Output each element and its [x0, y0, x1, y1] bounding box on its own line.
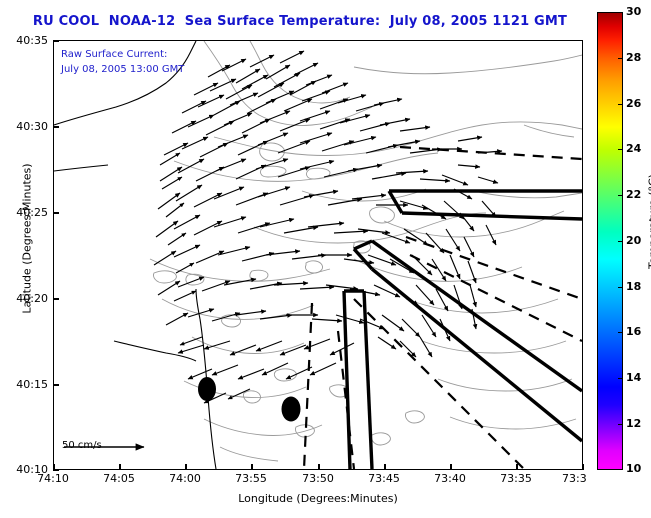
x-tick: [185, 464, 187, 470]
map-canvas: [54, 41, 582, 469]
colorbar-tick-label: 16: [626, 325, 641, 338]
reference-vector-arrow-icon: [62, 440, 158, 454]
x-tick: [318, 464, 320, 470]
colorbar-title: Temperature (°C): [647, 132, 651, 312]
x-tick-label: 73:50: [293, 472, 343, 485]
y-tick: [53, 298, 59, 300]
x-tick: [119, 464, 121, 470]
radar-station-marker: [198, 377, 216, 401]
y-tick-label: 40:35: [4, 34, 48, 47]
colorbar-tick-label: 14: [626, 371, 641, 384]
y-axis-title: Latitude (Degrees:Minutes): [21, 124, 34, 354]
y-tick-label: 40:15: [4, 378, 48, 391]
surface-current-vector-field: [154, 51, 502, 403]
sst-surface-current-figure: RU COOL NOAA-12 Sea Surface Temperature:…: [0, 0, 651, 518]
radar-station-marker: [282, 397, 301, 422]
colorbar-tick-label: 30: [626, 5, 641, 18]
scale-legend: 50 cm/s: [62, 440, 167, 453]
x-tick-label: 74:00: [160, 472, 210, 485]
annotation-line-2: July 08, 2005 13:00 GMT: [61, 64, 184, 75]
colorbar-tick-label: 20: [626, 234, 641, 247]
colorbar-tick-label: 18: [626, 280, 641, 293]
radar-sector-solid-boundaries: [344, 191, 582, 469]
x-tick: [251, 464, 253, 470]
current-annotation: Raw Surface Current:July 08, 2005 13:00 …: [61, 47, 184, 77]
coastline: [54, 41, 216, 469]
colorbar-tick-label: 26: [626, 97, 641, 110]
y-tick: [53, 40, 59, 42]
colorbar-tick-label: 24: [626, 142, 641, 155]
y-tick: [53, 212, 59, 214]
x-tick-label: 73:45: [359, 472, 409, 485]
map-plot-area: Raw Surface Current:July 08, 2005 13:00 …: [53, 40, 583, 470]
annotation-line-1: Raw Surface Current:: [61, 49, 167, 60]
x-tick-label: 73:35: [491, 472, 541, 485]
x-tick: [450, 464, 452, 470]
colorbar-tick-label: 22: [626, 188, 641, 201]
x-tick-label: 73:3: [562, 472, 612, 485]
x-tick: [582, 464, 584, 470]
x-tick: [384, 464, 386, 470]
x-axis-title: Longitude (Degrees:Minutes): [53, 492, 583, 505]
x-tick-label: 74:10: [28, 472, 78, 485]
x-tick-label: 73:40: [425, 472, 475, 485]
colorbar-tick-label: 10: [626, 462, 641, 475]
y-tick: [53, 126, 59, 128]
x-tick-label: 74:05: [94, 472, 144, 485]
y-tick: [53, 384, 59, 386]
colorbar-tick-label: 28: [626, 51, 641, 64]
x-tick: [53, 464, 55, 470]
page-title: RU COOL NOAA-12 Sea Surface Temperature:…: [0, 14, 600, 29]
colorbar-tick-label: 12: [626, 417, 641, 430]
x-tick: [516, 464, 518, 470]
x-tick-label: 73:55: [226, 472, 276, 485]
